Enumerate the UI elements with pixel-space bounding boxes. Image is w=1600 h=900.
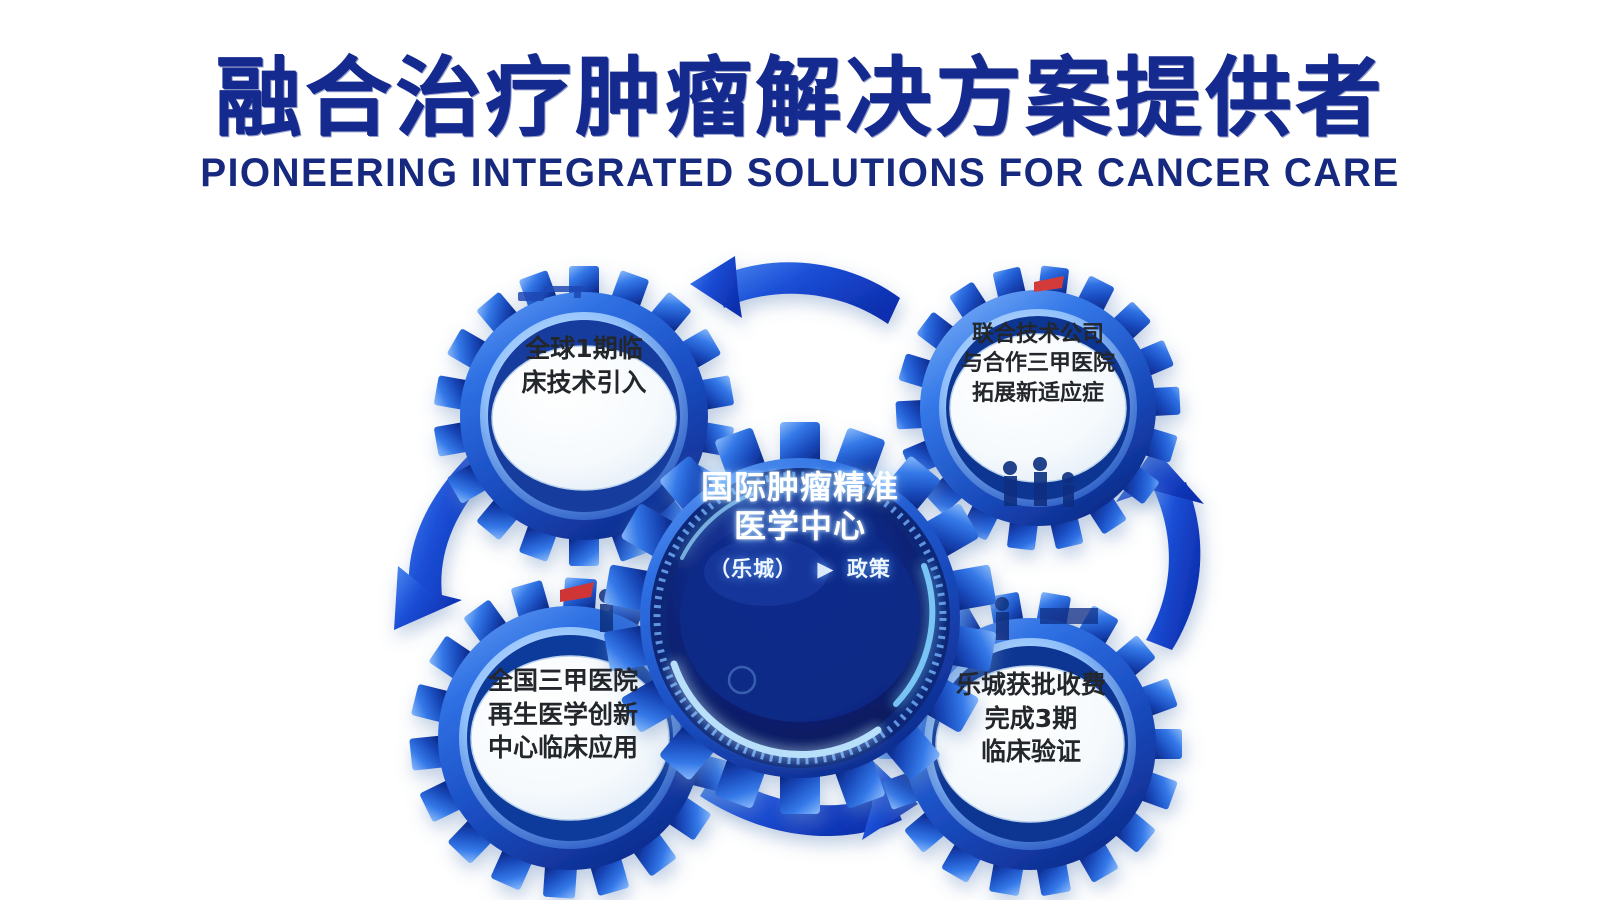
page-title-chinese: 融合治疗肿瘤解决方案提供者 bbox=[0, 52, 1600, 145]
building-silhouette-icon bbox=[1040, 608, 1098, 624]
person-silhouette-icon bbox=[995, 597, 1009, 640]
poster-canvas: 融合治疗肿瘤解决方案提供者 PIONEERING INTEGRATED SOLU… bbox=[0, 0, 1600, 900]
gear-cycle-diagram: 全球1期临 床技术引入 联合技术公司 与合作三甲医院 拓展新适应症 全国三甲医院… bbox=[0, 236, 1600, 900]
gear-top-right[interactable] bbox=[895, 265, 1180, 550]
gear-diagram-svg bbox=[0, 236, 1600, 900]
poster-header: 融合治疗肿瘤解决方案提供者 PIONEERING INTEGRATED SOLU… bbox=[0, 52, 1600, 196]
arrow-top bbox=[690, 256, 900, 324]
page-subtitle-english: PIONEERING INTEGRATED SOLUTIONS FOR CANC… bbox=[24, 151, 1576, 196]
center-gear-hub[interactable] bbox=[604, 422, 997, 814]
